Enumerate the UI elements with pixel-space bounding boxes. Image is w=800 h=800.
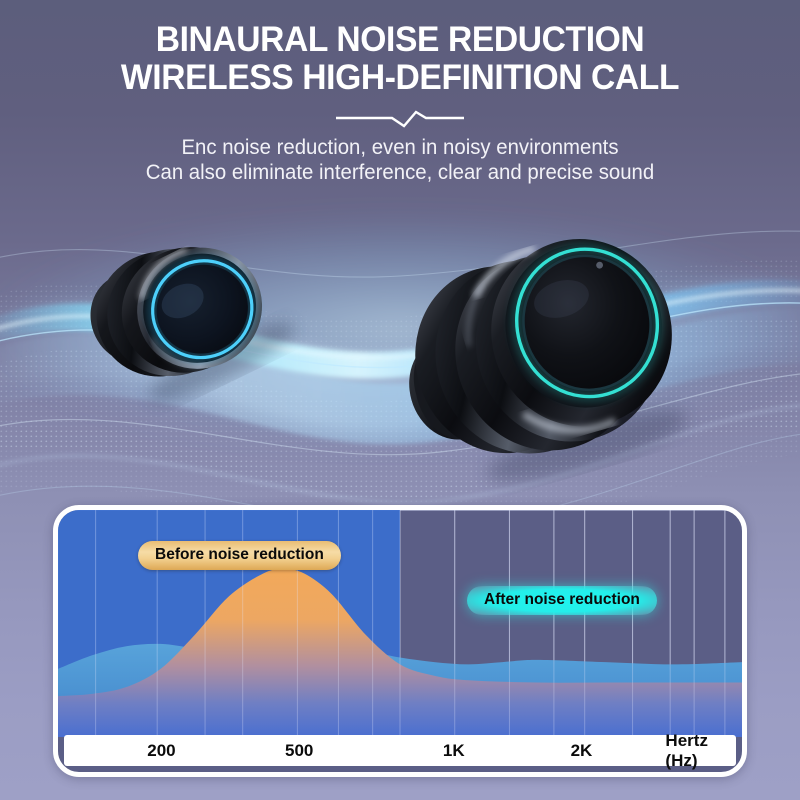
zigzag-divider-icon (330, 105, 470, 131)
axis-tick-2k: 2K (571, 741, 593, 761)
axis-tick-1k: 1K (443, 741, 465, 761)
earbud-left (72, 208, 301, 423)
frequency-axis: 2005001K2KHertz (Hz) (64, 735, 736, 766)
axis-tick-500: 500 (285, 741, 313, 761)
subtitle-line-2: Can also eliminate interference, clear a… (12, 160, 788, 185)
badge-after-noise-reduction: After noise reduction (467, 586, 657, 615)
page-title-line-1: BINAURAL NOISE REDUCTION (16, 21, 784, 59)
earbud-right (381, 218, 705, 510)
axis-tick-200: 200 (147, 741, 175, 761)
page-title-line-2: WIRELESS HIGH-DEFINITION CALL (16, 59, 784, 97)
subtitle-line-1: Enc noise reduction, even in noisy envir… (12, 135, 788, 160)
header: BINAURAL NOISE REDUCTION WIRELESS HIGH-D… (0, 0, 800, 185)
axis-tick-hertz-hz-: Hertz (Hz) (665, 731, 712, 771)
frequency-chart-panel: Before noise reduction After noise reduc… (53, 505, 747, 777)
badge-before-noise-reduction: Before noise reduction (138, 541, 341, 570)
